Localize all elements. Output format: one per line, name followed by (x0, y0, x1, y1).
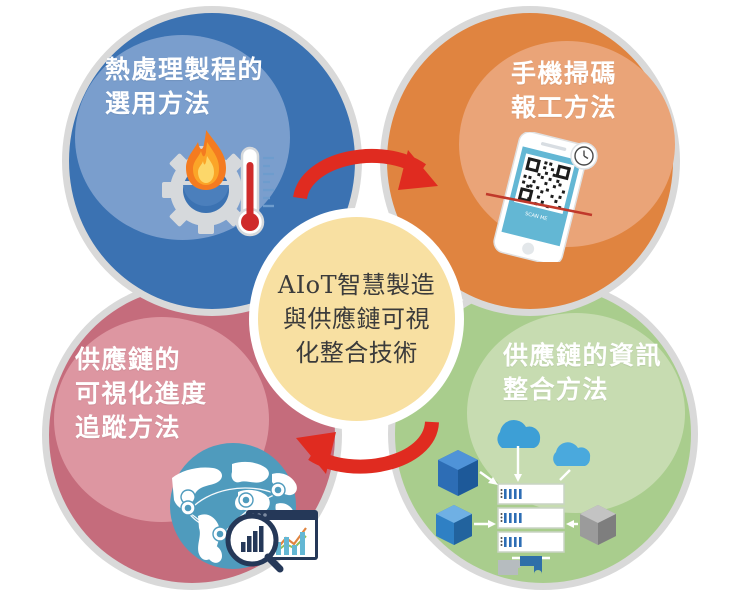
quadrant-label-supply-chain-visibility: 供應鏈的 可視化進度 追蹤方法 (75, 343, 208, 444)
quadrant-label-supply-chain-information: 供應鏈的資訊 整合方法 (503, 339, 662, 407)
quadrant-label-heat-treatment: 熱處理製程的 選用方法 (105, 53, 264, 121)
diagram-canvas: 熱處理製程的 選用方法 手機掃碼 報工方法 供應鏈的 可視化進度 追蹤方法 供應… (0, 0, 736, 593)
center-circle[interactable]: AIoT智慧製造 與供應鏈可視 化整合技術 (249, 208, 464, 430)
center-title: AIoT智慧製造 與供應鏈可視 化整合技術 (272, 268, 441, 370)
quadrant-label-mobile-qr-report: 手機掃碼 報工方法 (511, 57, 617, 125)
